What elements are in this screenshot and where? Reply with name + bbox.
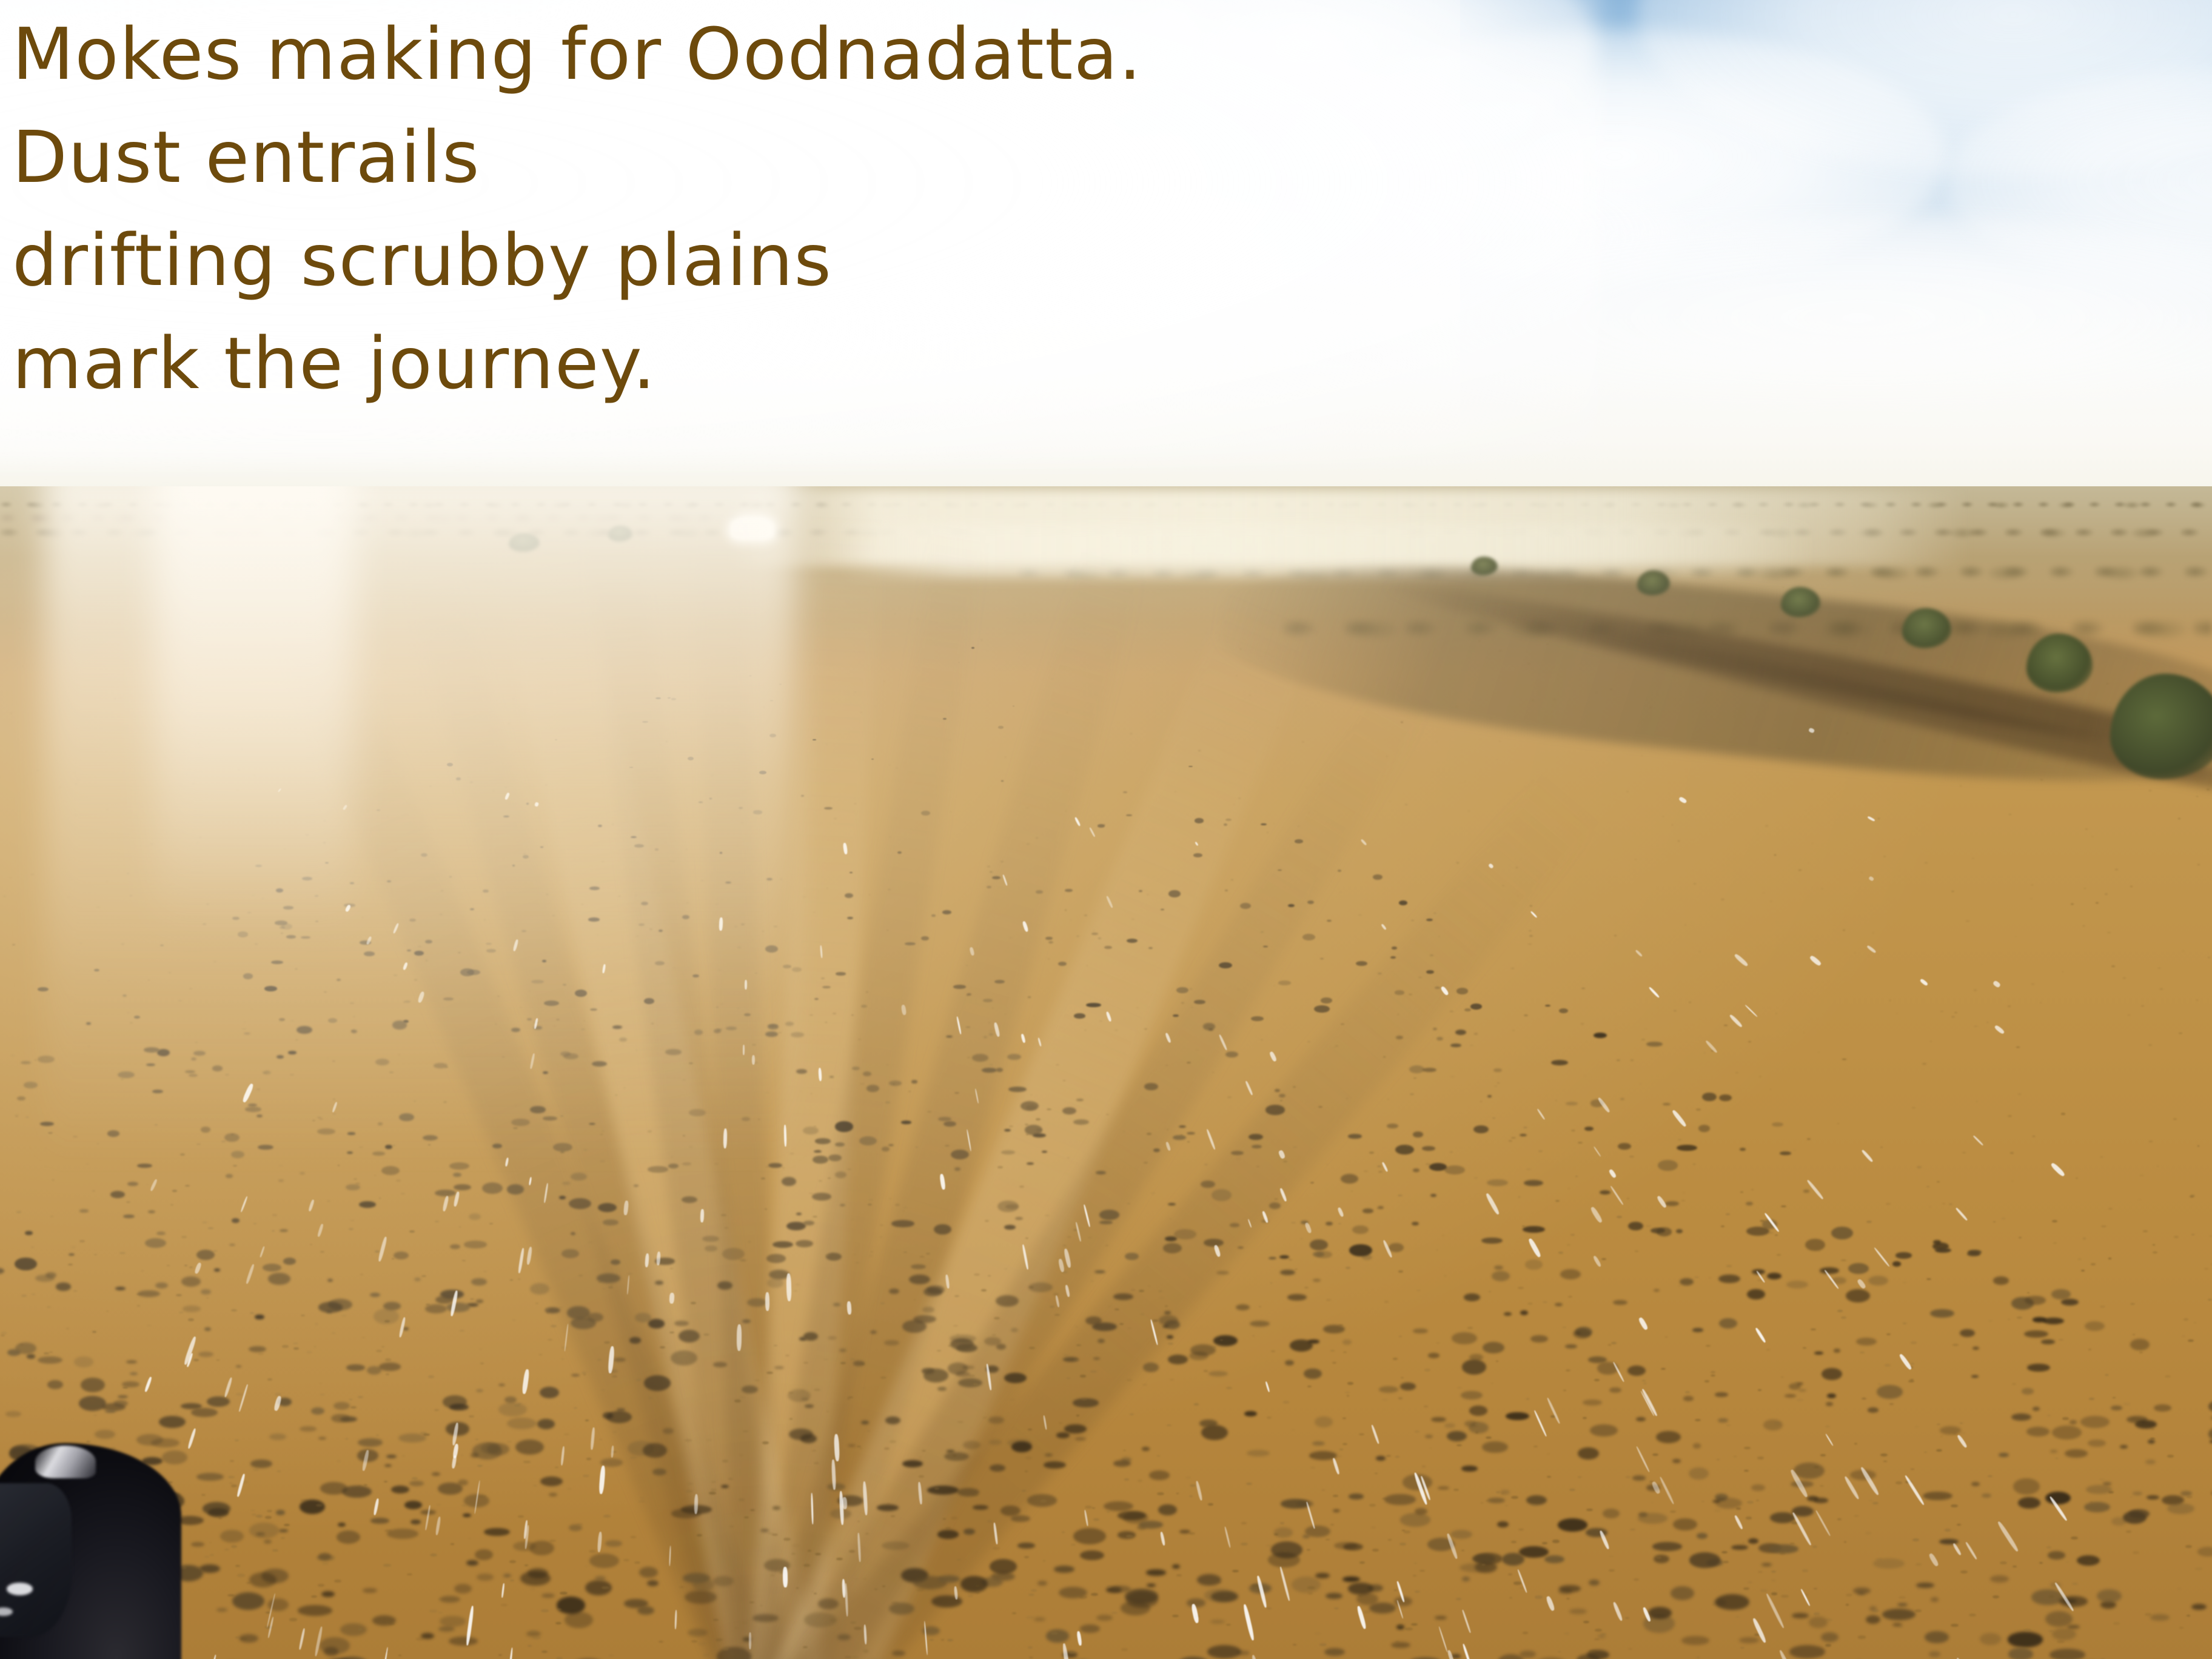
caption-line-3: drifting scrubby plains bbox=[12, 209, 1649, 312]
motion-streaks bbox=[0, 486, 2212, 1659]
vehicle-mirror bbox=[0, 1443, 181, 1659]
caption-block: Mokes making for Oodnadatta. Dust entrai… bbox=[12, 3, 1649, 415]
glint-icon bbox=[7, 1583, 33, 1595]
chrome-highlight-icon bbox=[35, 1446, 96, 1478]
caption-line-4: mark the journey. bbox=[12, 312, 1649, 415]
caption-line-2: Dust entrails bbox=[12, 106, 1649, 209]
photo-canvas: Mokes making for Oodnadatta. Dust entrai… bbox=[0, 0, 2212, 1659]
ground-region bbox=[0, 486, 2212, 1659]
caption-line-1: Mokes making for Oodnadatta. bbox=[12, 3, 1649, 106]
